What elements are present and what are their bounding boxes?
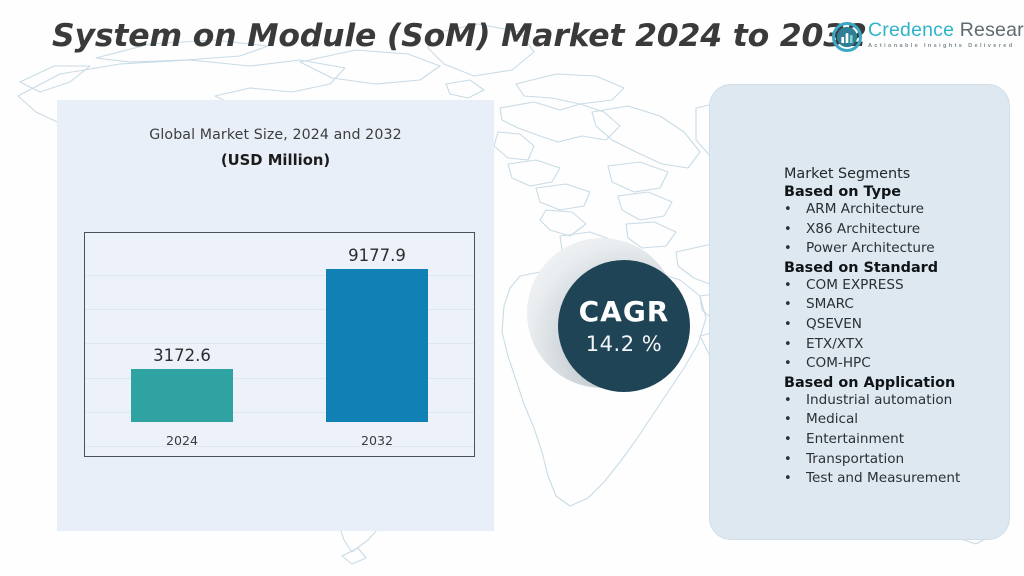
- segment-item-label: Transportation: [806, 450, 904, 470]
- segment-list-item: •Entertainment: [784, 430, 1004, 450]
- segment-list-item: •Power Architecture: [784, 239, 1004, 259]
- logo-name-primary: Credence: [868, 19, 954, 41]
- segment-list-item: •Test and Measurement: [784, 469, 1004, 489]
- segment-list-item: •ETX/XTX: [784, 335, 1004, 355]
- segment-item-label: Entertainment: [806, 430, 904, 450]
- segment-group-heading: Based on Standard: [784, 260, 1004, 276]
- bullet-icon: •: [784, 391, 806, 411]
- bullet-icon: •: [784, 335, 806, 355]
- chart-heading-line2: (USD Million): [57, 152, 494, 169]
- category-label: 2024: [166, 433, 198, 448]
- segment-group-heading: Based on Application: [784, 375, 1004, 391]
- bullet-icon: •: [784, 220, 806, 240]
- segments-title: Market Segments: [784, 166, 1004, 182]
- bullet-icon: •: [784, 239, 806, 259]
- segment-item-label: COM-HPC: [806, 354, 871, 374]
- bullet-icon: •: [784, 315, 806, 335]
- segment-item-label: COM EXPRESS: [806, 276, 904, 296]
- cagr-label: CAGR: [579, 298, 670, 326]
- logo-text-block: Credence Research Actionable Insights De…: [868, 19, 1024, 49]
- bar-value-label: 3172.6: [153, 346, 211, 365]
- segment-item-label: Medical: [806, 410, 858, 430]
- segment-list-item: •X86 Architecture: [784, 220, 1004, 240]
- segment-item-label: QSEVEN: [806, 315, 862, 335]
- logo-name-secondary: Research: [954, 19, 1024, 41]
- segment-item-label: ARM Architecture: [806, 200, 924, 220]
- bar-2024: [131, 369, 233, 422]
- segment-group-heading: Based on Type: [784, 184, 1004, 200]
- cagr-badge: CAGR 14.2 %: [527, 238, 727, 413]
- bar-2032: [326, 269, 428, 422]
- segment-list-item: •ARM Architecture: [784, 200, 1004, 220]
- infographic-root: System on Module (SoM) Market 2024 to 20…: [0, 0, 1024, 576]
- bar-rect: [326, 269, 428, 422]
- segment-list-item: •COM-HPC: [784, 354, 1004, 374]
- segment-item-label: Power Architecture: [806, 239, 935, 259]
- segment-item-label: ETX/XTX: [806, 335, 863, 355]
- bullet-icon: •: [784, 295, 806, 315]
- cagr-circle: CAGR 14.2 %: [558, 260, 690, 392]
- market-segments-list: Market Segments Based on Type•ARM Archit…: [784, 166, 1004, 489]
- bullet-icon: •: [784, 450, 806, 470]
- segment-list-item: •SMARC: [784, 295, 1004, 315]
- chart-heading: Global Market Size, 2024 and 2032 (USD M…: [57, 127, 494, 169]
- segment-groups: Based on Type•ARM Architecture•X86 Archi…: [784, 184, 1004, 489]
- logo-name: Credence Research: [868, 19, 1024, 42]
- logo-tagline: Actionable Insights Delivered: [868, 43, 1024, 49]
- header: System on Module (SoM) Market 2024 to 20…: [0, 0, 1024, 78]
- page-title: System on Module (SoM) Market 2024 to 20…: [52, 18, 867, 54]
- credence-research-logo[interactable]: Credence Research Actionable Insights De…: [832, 19, 1010, 61]
- segment-list-item: •COM EXPRESS: [784, 276, 1004, 296]
- bullet-icon: •: [784, 430, 806, 450]
- segment-list-item: •Transportation: [784, 450, 1004, 470]
- bullet-icon: •: [784, 200, 806, 220]
- segment-list-item: •Industrial automation: [784, 391, 1004, 411]
- bullet-icon: •: [784, 410, 806, 430]
- category-label: 2032: [361, 433, 393, 448]
- segment-item-label: Test and Measurement: [806, 469, 960, 489]
- bar-rect: [131, 369, 233, 422]
- chart-plot-area: 3172.620249177.92032: [85, 233, 474, 456]
- bar-value-label: 9177.9: [348, 246, 406, 265]
- segment-item-label: SMARC: [806, 295, 854, 315]
- bullet-icon: •: [784, 354, 806, 374]
- segment-item-label: X86 Architecture: [806, 220, 920, 240]
- bullet-icon: •: [784, 276, 806, 296]
- bar-chart-circle-icon: [832, 22, 862, 52]
- segment-list-item: •QSEVEN: [784, 315, 1004, 335]
- cagr-value: 14.2 %: [586, 334, 662, 355]
- chart-heading-line1: Global Market Size, 2024 and 2032: [57, 127, 494, 143]
- segment-list-item: •Medical: [784, 410, 1004, 430]
- bullet-icon: •: [784, 469, 806, 489]
- bar-chart: 3172.620249177.92032: [84, 232, 475, 457]
- segment-item-label: Industrial automation: [806, 391, 952, 411]
